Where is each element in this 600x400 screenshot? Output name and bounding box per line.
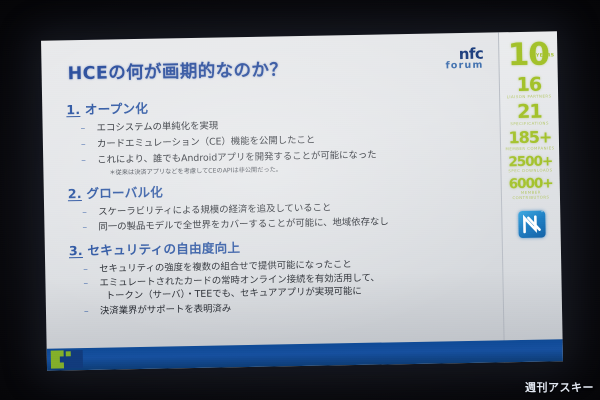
stats-rail: 10 YEARS 16 LIAISON PARTNERS 21 SPECIFIC… — [498, 31, 563, 362]
dash-bullet-icon: – — [84, 305, 89, 318]
stat-specifications-number: 21 — [500, 103, 558, 122]
section-3-number: 3. — [69, 243, 83, 258]
stat-spec-downloads: 2500+ SPEC DOWNLOADS — [501, 155, 559, 174]
slide-title: HCEの何が画期的なのか？ — [67, 52, 492, 85]
stat-spec-downloads-number: 2500+ — [501, 155, 559, 168]
section-2-bullets: –スケーラビリティによる規模の経済を追及していること –同一の製品モデルで全世界… — [66, 198, 495, 235]
publisher-watermark: 週刊アスキー — [525, 379, 594, 395]
nfc-forum-logo: nfc forum — [445, 47, 483, 71]
stat-member-companies: 185+ MEMBER COMPANIES — [501, 130, 559, 152]
section-3-title: セキュリティの自由度向上 — [87, 240, 240, 258]
section-1-number: 1. — [66, 102, 80, 117]
dash-bullet-icon: – — [83, 263, 88, 276]
stat-years-suffix: YEARS — [536, 53, 554, 58]
bullet-text: これにより、誰でもAndroidアプリを開発することが可能になった — [97, 149, 377, 165]
stat-member-contributors: 6000+ MEMBER CONTRIBUTORS — [502, 177, 560, 201]
stat-liaison-partners: 16 LIAISON PARTNERS — [500, 76, 558, 100]
stat-member-companies-label: MEMBER COMPANIES — [501, 146, 559, 152]
stat-spec-downloads-label: SPEC DOWNLOADS — [501, 168, 559, 174]
stat-member-contributors-label: MEMBER CONTRIBUTORS — [502, 191, 560, 202]
stat-member-contributors-number: 6000+ — [502, 177, 560, 190]
bullet-text: 同一の製品モデルで全世界をカバーすることが可能に、地域依存なし — [98, 217, 389, 233]
section-2-number: 2. — [68, 186, 82, 201]
stat-liaison-partners-number: 16 — [500, 76, 558, 95]
dash-bullet-icon: – — [81, 122, 86, 135]
section-3-heading: 3. セキュリティの自由度向上 — [69, 232, 496, 259]
bullet-text: スケーラビリティによる規模の経済を追及していること — [98, 202, 331, 217]
stat-liaison-partners-label: LIAISON PARTNERS — [500, 94, 558, 100]
stat-member-companies-number: 185+ — [501, 130, 559, 146]
section-3-bullets: –セキュリティの強度を複数の組合せで提供可能になったこと –エミュレートされたカ… — [67, 255, 497, 318]
projection-screen: HCEの何が画期的なのか？ 1. オープン化 –エコシステムの単純化を実現 –カ… — [41, 31, 563, 370]
stat-specifications: 21 SPECIFICATIONS — [500, 103, 558, 127]
nfc-forum-logo-line2: forum — [445, 61, 483, 71]
logo-inner-dot — [60, 356, 66, 362]
section-global: 2. グローバル化 –スケーラビリティによる規模の経済を追及していること –同一… — [66, 175, 496, 235]
section-1-bullets: –エコシステムの単純化を実現 –カードエミュレーション（CE）機能を公開したこと… — [65, 114, 495, 167]
bullet-text: 決済業界がサポートを表明済み — [100, 303, 231, 316]
trademark-symbol: ™ — [540, 211, 543, 215]
dash-bullet-icon: – — [83, 277, 88, 290]
presenter-logo-icon — [51, 350, 83, 369]
bullet-text: エコシステムの単純化を実現 — [97, 121, 219, 134]
watermark-text: 週刊アスキー — [525, 381, 594, 394]
dash-bullet-icon: – — [81, 154, 86, 167]
section-open: 1. オープン化 –エコシステムの単純化を実現 –カードエミュレーション（CE）… — [64, 91, 494, 177]
section-security: 3. セキュリティの自由度向上 –セキュリティの強度を複数の組合せで提供可能にな… — [67, 232, 497, 318]
slide-content: HCEの何が画期的なのか？ 1. オープン化 –エコシステムの単純化を実現 –カ… — [41, 32, 504, 370]
bullet-text: カードエミュレーション（CE）機能を公開したこと — [97, 135, 316, 150]
section-1-heading: 1. オープン化 — [66, 91, 493, 118]
section-2-heading: 2. グローバル化 — [68, 175, 495, 202]
stat-years: 10 YEARS — [499, 40, 558, 70]
dash-bullet-icon: – — [82, 221, 87, 234]
nfc-n-mark-icon: ™ — [518, 211, 545, 238]
logo-inner-dot-2 — [66, 351, 71, 356]
dash-bullet-icon: – — [82, 206, 87, 219]
section-2-title: グローバル化 — [86, 184, 163, 200]
dash-bullet-icon: – — [81, 138, 86, 151]
presentation-slide: HCEの何が画期的なのか？ 1. オープン化 –エコシステムの単純化を実現 –カ… — [41, 31, 563, 370]
section-1-title: オープン化 — [85, 101, 148, 117]
